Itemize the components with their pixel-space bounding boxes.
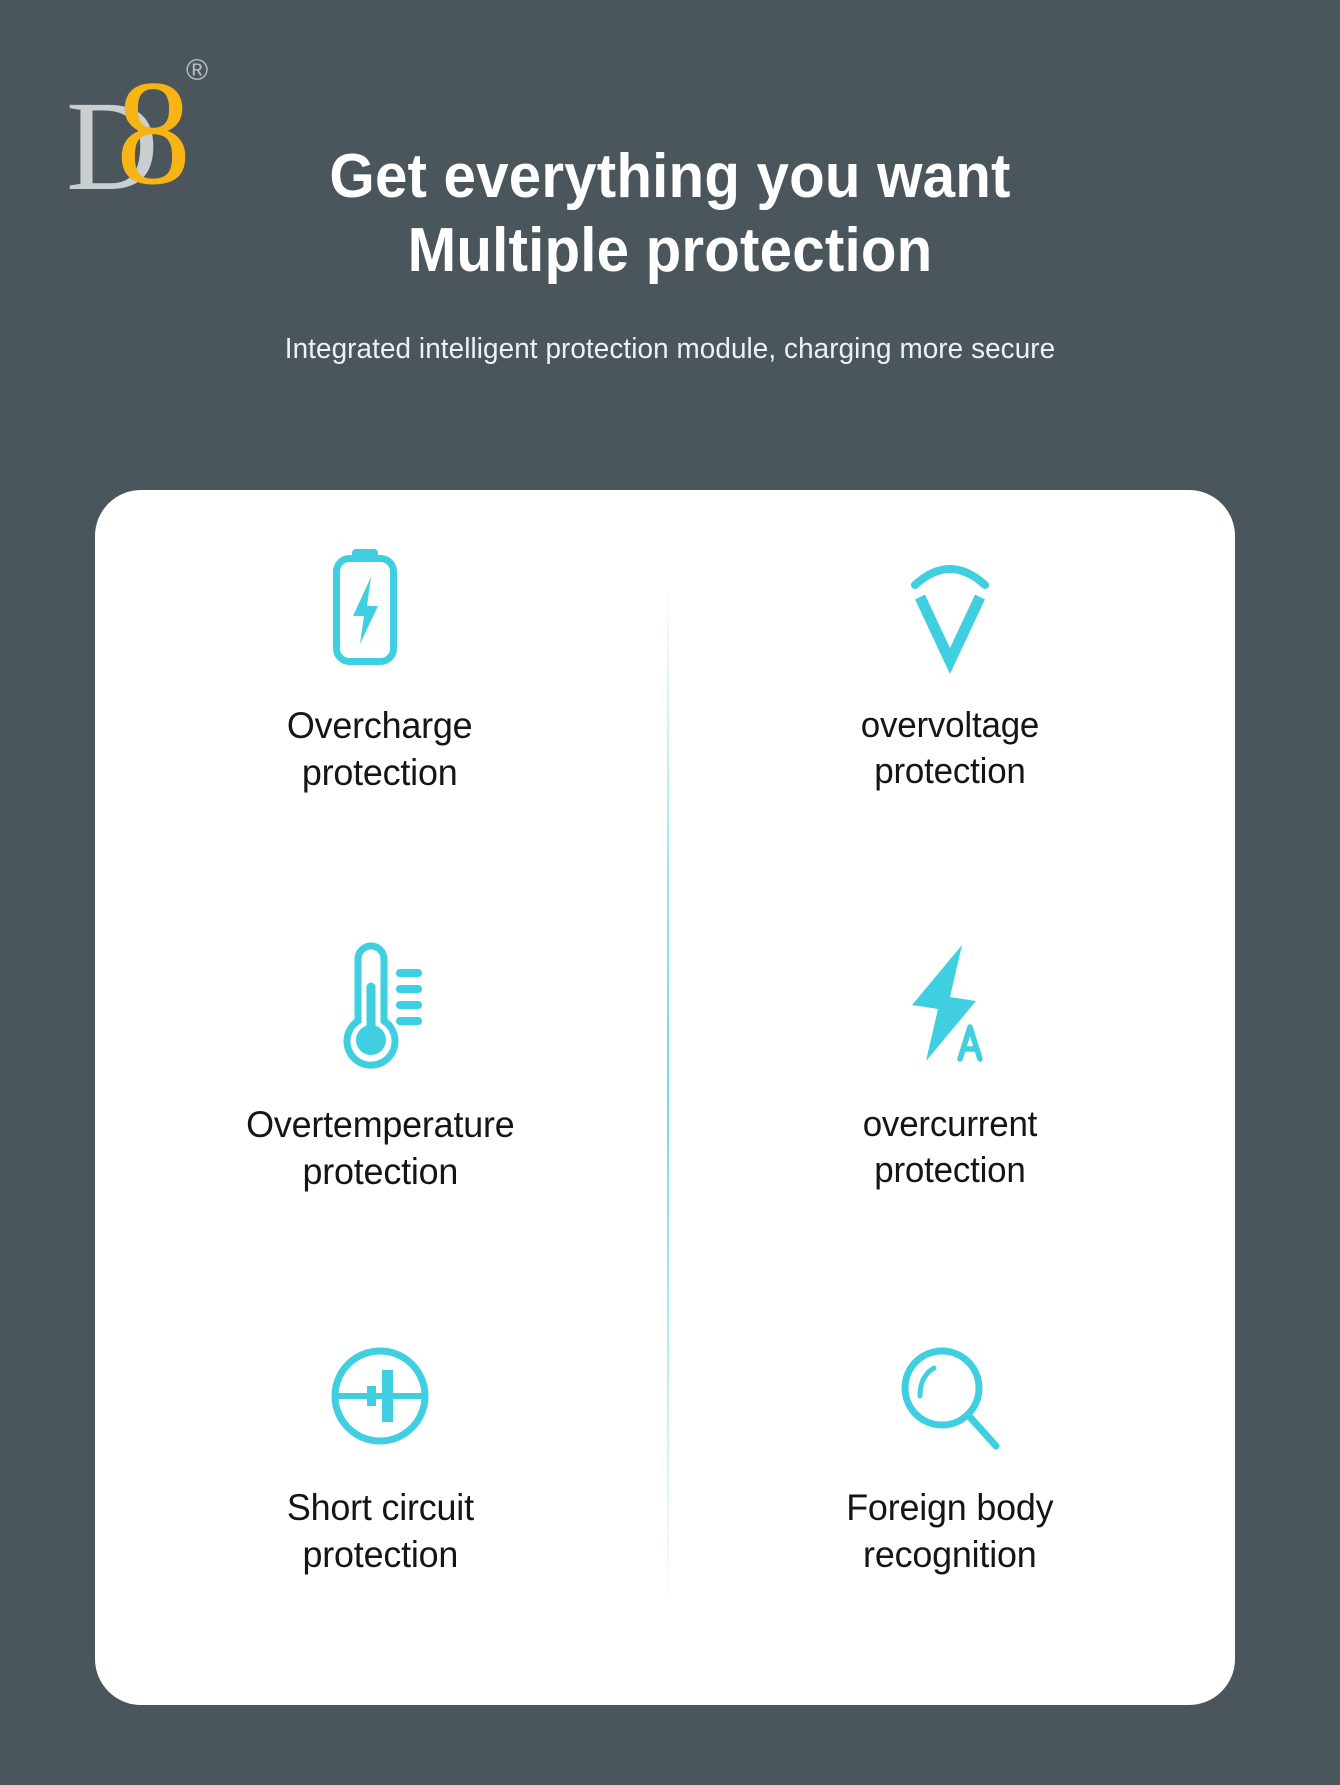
feature-label: Overtemperature protection bbox=[246, 1101, 514, 1196]
magnifier-icon bbox=[880, 1326, 1020, 1466]
features-card: Overcharge protection overvoltage protec… bbox=[95, 490, 1235, 1705]
feature-label: overvoltage protection bbox=[861, 702, 1039, 794]
feature-overcurrent-protection: overcurrent protection bbox=[665, 909, 1235, 1292]
feature-label: Foreign body recognition bbox=[846, 1484, 1053, 1579]
page-title-line1: Get everything you want bbox=[329, 142, 1010, 211]
feature-overvoltage-protection: overvoltage protection bbox=[665, 526, 1235, 909]
thermometer-icon bbox=[310, 935, 450, 1075]
feature-short-circuit-protection: Short circuit protection bbox=[95, 1292, 665, 1675]
feature-label: Short circuit protection bbox=[287, 1484, 474, 1579]
feature-label: Overcharge protection bbox=[287, 702, 473, 797]
overvoltage-v-icon bbox=[880, 540, 1020, 680]
feature-foreign-body-recognition: Foreign body recognition bbox=[665, 1292, 1235, 1675]
features-grid: Overcharge protection overvoltage protec… bbox=[95, 490, 1235, 1705]
feature-overtemperature-protection: Overtemperature protection bbox=[95, 909, 665, 1292]
header: Get everything you want Multiple protect… bbox=[0, 0, 1340, 366]
feature-label: overcurrent protection bbox=[863, 1101, 1037, 1193]
lightning-ampere-icon bbox=[880, 935, 1020, 1075]
feature-overcharge-protection: Overcharge protection bbox=[95, 526, 665, 909]
infographic-page: D 8 ® Get everything you want Multiple p… bbox=[0, 0, 1340, 1785]
battery-charging-icon bbox=[310, 540, 450, 680]
page-title: Get everything you want Multiple protect… bbox=[40, 0, 1300, 289]
short-circuit-icon bbox=[310, 1326, 450, 1466]
page-title-line2: Multiple protection bbox=[40, 214, 1300, 288]
page-subtitle: Integrated intelligent protection module… bbox=[27, 289, 1313, 366]
